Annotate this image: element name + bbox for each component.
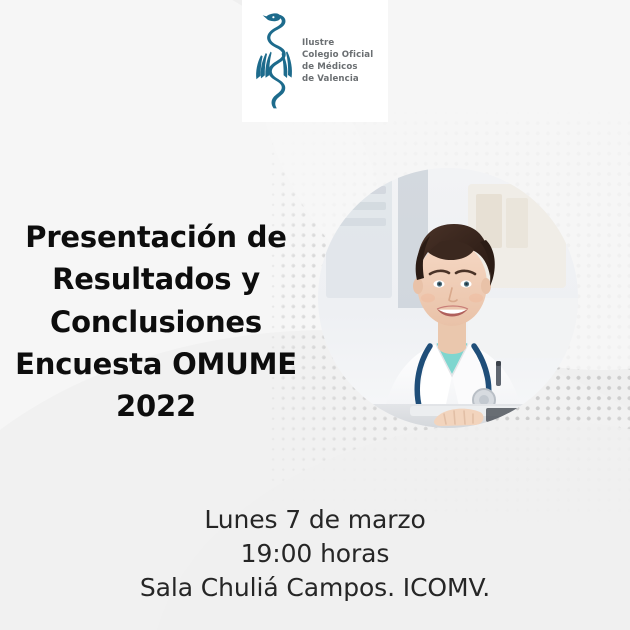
poster-canvas: Ilustre Colegio Oficial de Médicos de Va… <box>0 0 630 630</box>
event-details: Lunes 7 de marzo 19:00 horas Sala Chuliá… <box>0 503 630 605</box>
logo-line-1: Ilustre <box>302 37 373 49</box>
portrait-illustration <box>318 168 578 428</box>
title-line-2: Resultados y <box>6 258 306 300</box>
doctor-portrait-photo <box>318 168 578 428</box>
title-line-3: Conclusiones <box>6 301 306 343</box>
event-venue: Sala Chuliá Campos. ICOMV. <box>0 571 630 605</box>
page-title: Presentación de Resultados y Conclusione… <box>6 216 306 428</box>
title-line-5: 2022 <box>6 385 306 427</box>
institution-logo-card: Ilustre Colegio Oficial de Médicos de Va… <box>242 0 388 122</box>
title-line-1: Presentación de <box>6 216 306 258</box>
event-date: Lunes 7 de marzo <box>0 503 630 537</box>
logo-wordmark: Ilustre Colegio Oficial de Médicos de Va… <box>302 37 373 86</box>
asclepius-serpent-icon <box>248 9 300 113</box>
logo-line-2: Colegio Oficial <box>302 49 373 61</box>
event-time: 19:00 horas <box>0 537 630 571</box>
title-line-4: Encuesta OMUME <box>6 343 306 385</box>
logo-line-3: de Médicos <box>302 61 373 73</box>
logo-line-4: de Valencia <box>302 73 373 85</box>
